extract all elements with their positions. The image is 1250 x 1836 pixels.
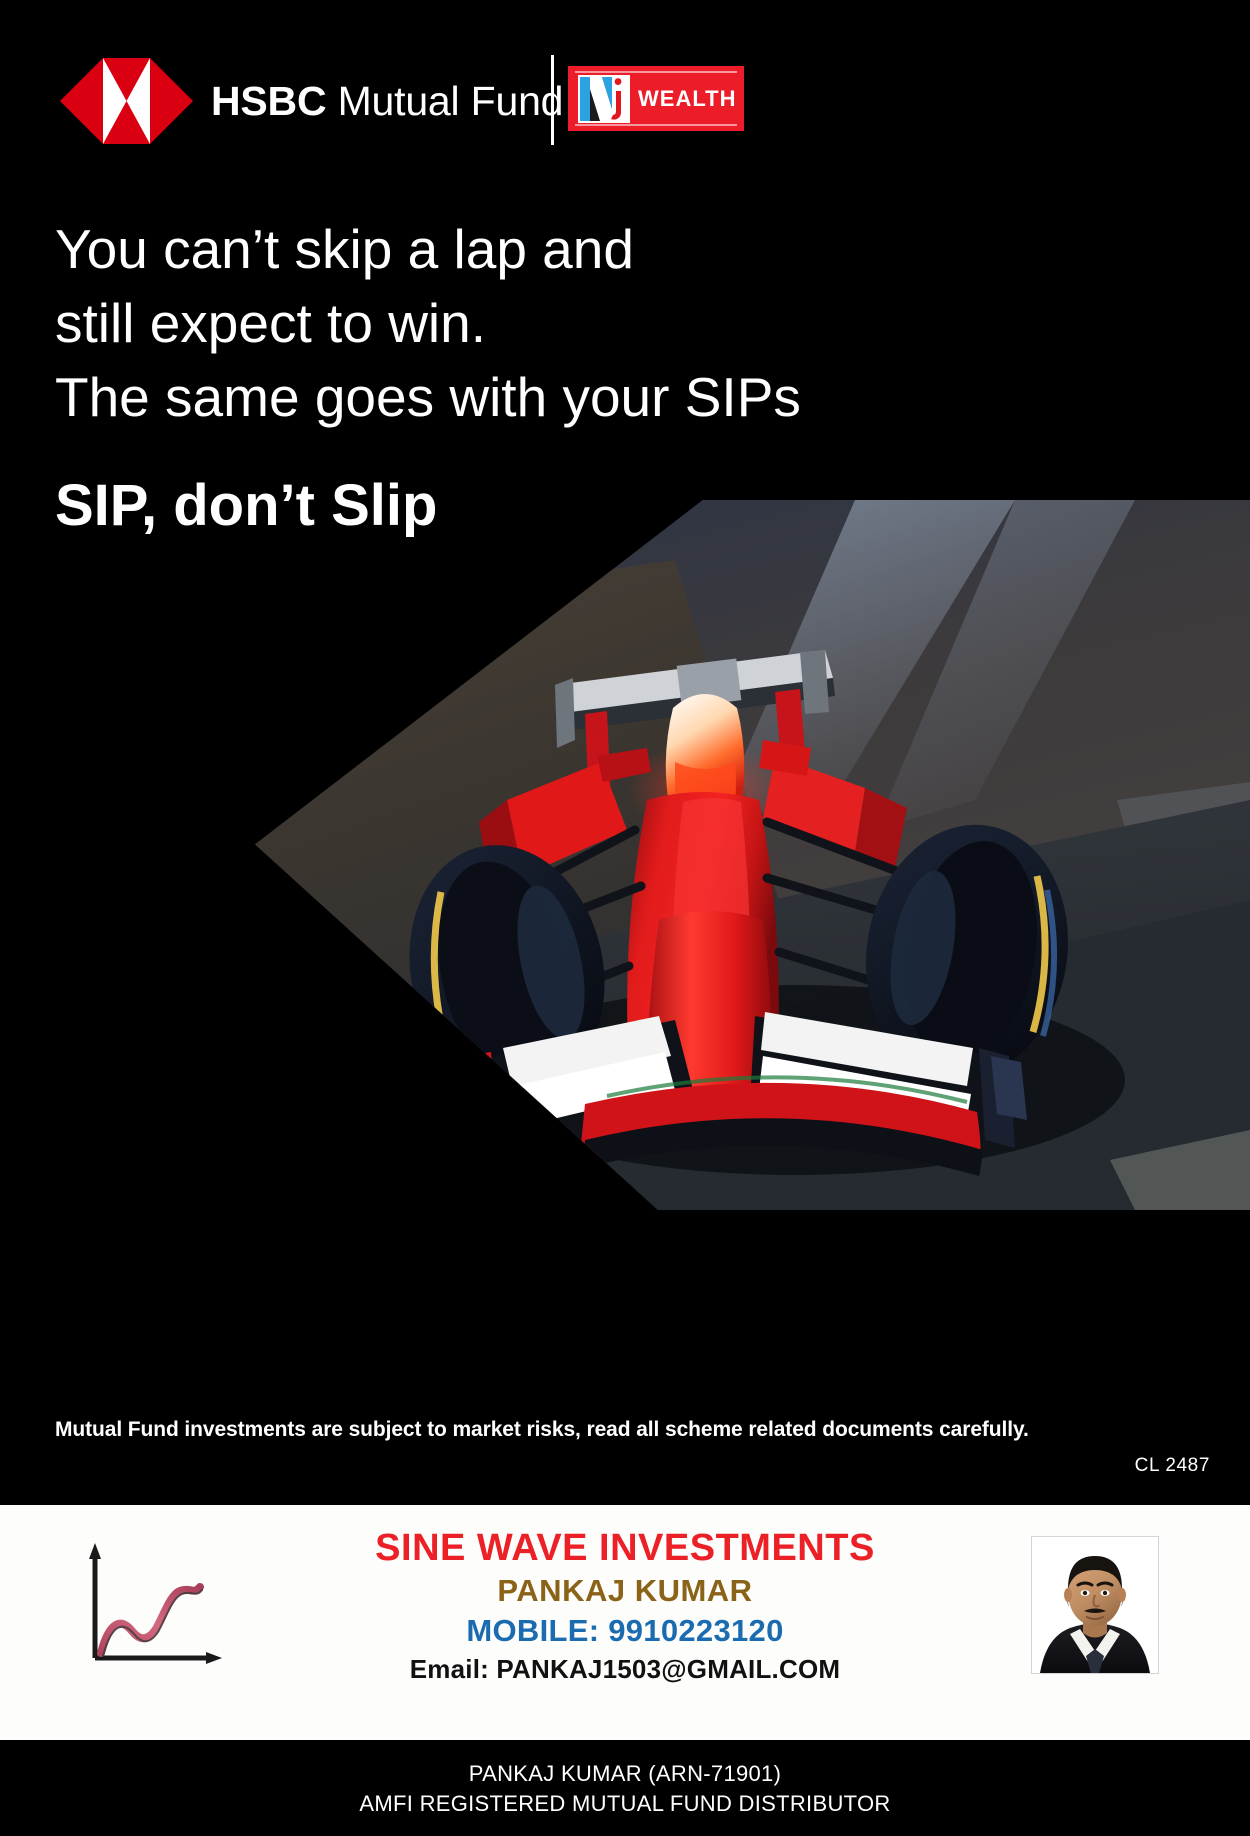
distributor-details: SINE WAVE INVESTMENTS PANKAJ KUMAR MOBIL… xyxy=(260,1525,990,1687)
formula-one-race-car-photo xyxy=(255,500,1250,1210)
nj-wealth-label: WEALTH xyxy=(638,86,736,112)
compliance-code: CL 2487 xyxy=(1135,1455,1210,1477)
sine-wave-growth-chart-icon xyxy=(70,1533,230,1678)
headline-line-3: The same goes with your SIPs xyxy=(55,360,935,434)
brand-logo-bar: HSBC Mutual Fund WEALTH xyxy=(0,0,1250,175)
arn-registration-line: PANKAJ KUMAR (ARN-71901) xyxy=(0,1759,1250,1789)
email-address[interactable]: Email: PANKAJ1503@GMAIL.COM xyxy=(260,1651,990,1687)
risk-disclaimer-text: Mutual Fund investments are subject to m… xyxy=(55,1418,1029,1442)
headline-line-1: You can’t skip a lap and xyxy=(55,212,935,286)
vertical-divider-icon xyxy=(551,55,554,145)
advisor-portrait-photo xyxy=(1031,1536,1159,1674)
hsbc-wordmark-bold: HSBC xyxy=(211,78,326,124)
page-title: You can’t skip a lap and still expect to… xyxy=(55,212,935,434)
hsbc-logo: HSBC Mutual Fund xyxy=(60,58,563,144)
firm-name: SINE WAVE INVESTMENTS xyxy=(260,1525,990,1571)
nj-monogram-icon xyxy=(578,75,630,123)
arn-footer-bar: PANKAJ KUMAR (ARN-71901) AMFI REGISTERED… xyxy=(0,1740,1250,1836)
headline-line-2: still expect to win. xyxy=(55,286,935,360)
hsbc-wordmark-light: Mutual Fund xyxy=(326,78,563,124)
sip-campaign-poster: HSBC Mutual Fund WEALTH xyxy=(0,0,1250,1836)
hsbc-wordmark: HSBC Mutual Fund xyxy=(211,81,563,122)
nj-wealth-logo: WEALTH xyxy=(568,66,744,131)
mobile-number[interactable]: MOBILE: 9910223120 xyxy=(260,1611,990,1651)
advisor-name: PANKAJ KUMAR xyxy=(260,1571,990,1611)
hsbc-hexagon-icon xyxy=(60,58,193,144)
amfi-distributor-line: AMFI REGISTERED MUTUAL FUND DISTRIBUTOR xyxy=(0,1789,1250,1819)
tagline: SIP, don’t Slip xyxy=(55,472,437,539)
distributor-footer-card: SINE WAVE INVESTMENTS PANKAJ KUMAR MOBIL… xyxy=(0,1505,1250,1740)
